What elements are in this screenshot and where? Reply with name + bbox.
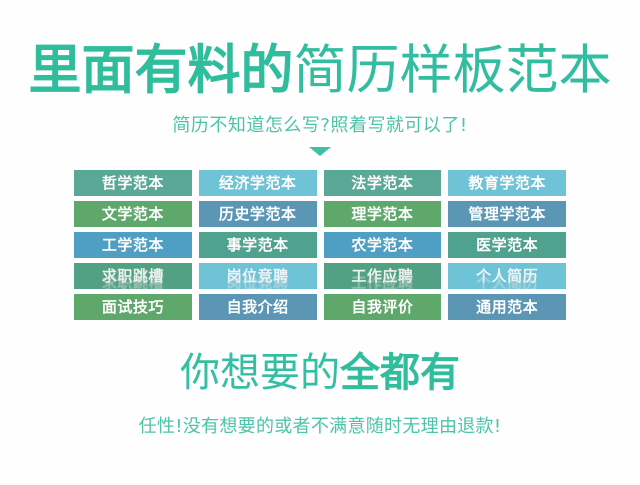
hero-title: 里面有料的简历样板范本 — [29, 44, 612, 97]
arrow-container — [309, 145, 331, 157]
category-tag[interactable]: 哲学范本 — [74, 170, 192, 196]
poster-root: 里面有料的简历样板范本 简历不知道怎么写?照着写就可以了! 哲学范本经济学范本法… — [0, 0, 640, 485]
footer-title-emphasis: 全都有 — [340, 350, 460, 396]
hero-title-main: 简历样板范本 — [294, 40, 612, 101]
category-tag[interactable]: 自我介绍 — [199, 294, 317, 320]
template-category-grid: 哲学范本经济学范本法学范本教育学范本文学范本历史学范本理学范本管理学范本工学范本… — [74, 170, 566, 320]
hero-subtitle: 简历不知道怎么写?照着写就可以了! — [172, 111, 467, 137]
footer-title-main: 你想要的 — [180, 350, 340, 396]
footer-subtitle: 任性!没有想要的或者不满意随时无理由退款! — [139, 412, 502, 438]
category-tag[interactable]: 教育学范本 — [448, 170, 566, 196]
triangle-down-icon — [309, 147, 331, 156]
category-tag[interactable]: 文学范本 — [74, 201, 192, 227]
category-tag[interactable]: 岗位竞聘 — [199, 263, 317, 289]
footer-title: 你想要的全都有 — [180, 353, 460, 393]
category-tag[interactable]: 经济学范本 — [199, 170, 317, 196]
category-tag[interactable]: 自我评价 — [324, 294, 442, 320]
category-tag[interactable]: 工学范本 — [74, 232, 192, 258]
category-tag[interactable]: 管理学范本 — [448, 201, 566, 227]
category-tag[interactable]: 个人简历 — [448, 263, 566, 289]
category-tag[interactable]: 通用范本 — [448, 294, 566, 320]
hero-title-emphasis: 里面有料的 — [29, 40, 294, 101]
category-tag[interactable]: 求职跳槽 — [74, 263, 192, 289]
category-tag[interactable]: 事学范本 — [199, 232, 317, 258]
category-tag[interactable]: 理学范本 — [324, 201, 442, 227]
category-tag[interactable]: 工作应聘 — [324, 263, 442, 289]
category-tag[interactable]: 医学范本 — [448, 232, 566, 258]
category-tag[interactable]: 农学范本 — [324, 232, 442, 258]
category-tag[interactable]: 历史学范本 — [199, 201, 317, 227]
category-tag[interactable]: 面试技巧 — [74, 294, 192, 320]
category-tag[interactable]: 法学范本 — [324, 170, 442, 196]
